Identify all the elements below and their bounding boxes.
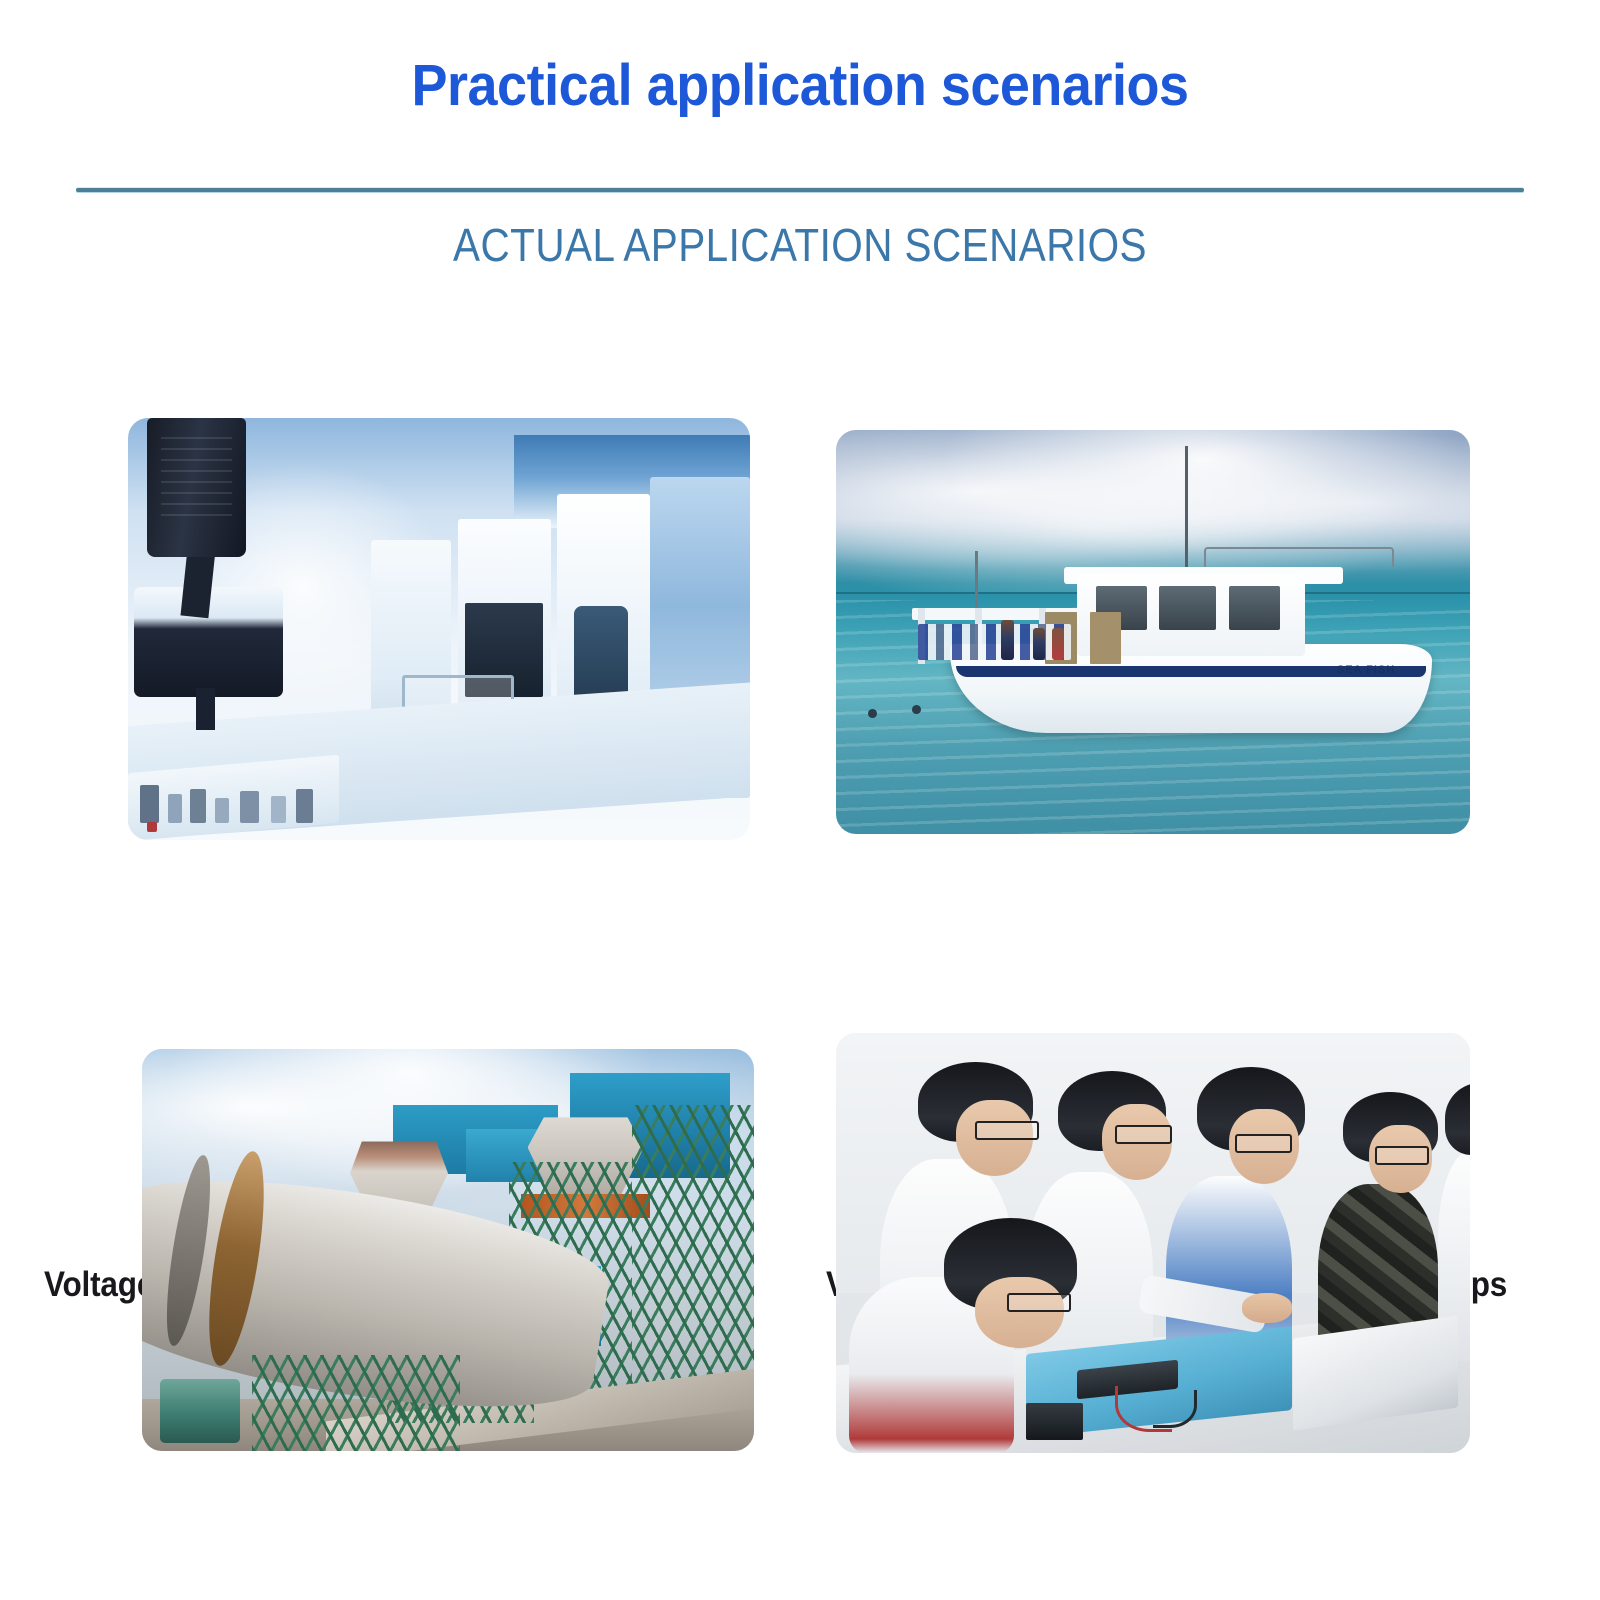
cabin-window — [1159, 586, 1216, 630]
scenario-grid: Voltage conversion for automation equipm… — [0, 380, 1600, 1600]
student-hand — [1242, 1293, 1293, 1322]
circuit-component — [168, 794, 182, 824]
circuit-component — [240, 791, 259, 823]
boat-mast-secondary — [975, 551, 978, 616]
scenario-card-mining-machinery[interactable] — [142, 1049, 754, 1451]
cabin-window — [1229, 586, 1280, 630]
application-scenarios-page: Practical application scenarios ACTUAL A… — [0, 0, 1600, 1600]
circuit-component-red — [147, 822, 157, 831]
scenario-image-automation-equipment — [128, 418, 750, 840]
scenario-card-automation-equipment[interactable] — [128, 418, 750, 840]
circuit-component — [190, 789, 206, 823]
steel-scaffolding — [252, 1355, 460, 1451]
boat-mast — [1185, 446, 1188, 579]
passenger — [1052, 628, 1065, 660]
passengers-at-rail — [918, 624, 1070, 660]
header-divider — [76, 188, 1524, 192]
page-title: Practical application scenarios — [56, 52, 1544, 119]
page-subtitle: ACTUAL APPLICATION SCENARIOS — [96, 218, 1504, 272]
boat-name-text: SEA FISH — [1337, 664, 1395, 676]
circuit-component — [296, 789, 313, 823]
circuit-component — [271, 796, 286, 823]
student-glasses — [1115, 1125, 1172, 1144]
boat-upper-rail — [1204, 547, 1394, 567]
student-glasses — [1007, 1293, 1070, 1312]
student-glasses — [1375, 1146, 1429, 1165]
cabin-door — [1090, 612, 1122, 665]
scenario-card-teaching-experiments-diy[interactable] — [836, 1033, 1470, 1453]
multimeter — [1026, 1403, 1083, 1441]
swimmer — [868, 709, 877, 718]
passenger — [1033, 628, 1046, 660]
swimmer — [912, 705, 921, 714]
scenario-image-mining-machinery — [142, 1049, 754, 1451]
student-face — [975, 1277, 1064, 1348]
microscope-head — [147, 418, 247, 557]
page-header: Practical application scenarios ACTUAL A… — [0, 0, 1600, 300]
circuit-component — [140, 785, 159, 823]
microscope-stem — [196, 688, 215, 730]
scenario-image-automobiles-and-ships: SEA FISH — [836, 430, 1470, 834]
scenario-card-automobiles-and-ships[interactable]: SEA FISH — [836, 430, 1470, 834]
scenario-image-teaching-experiments-diy — [836, 1033, 1470, 1453]
circuit-component — [215, 798, 229, 823]
student-glasses — [975, 1121, 1038, 1140]
student-glasses — [1235, 1134, 1292, 1153]
passenger — [1001, 620, 1014, 660]
kiln-drive-motor — [160, 1379, 240, 1443]
